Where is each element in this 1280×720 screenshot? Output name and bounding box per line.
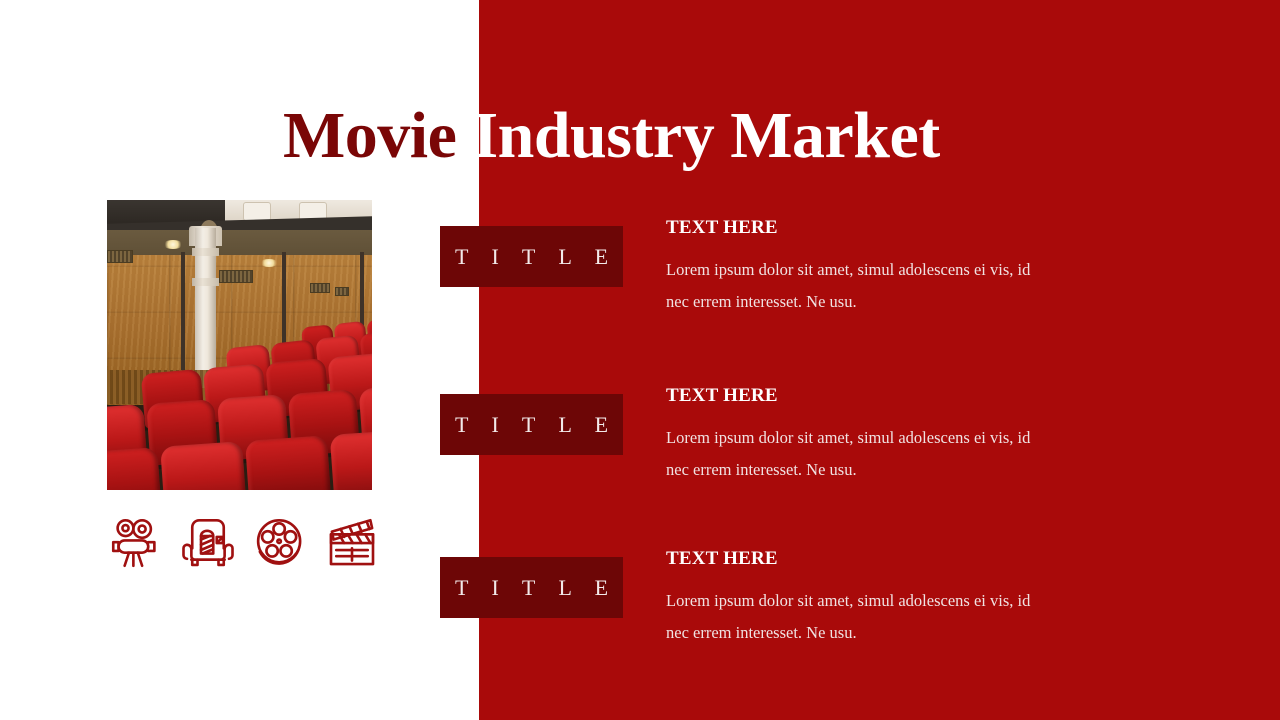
content-row: T I T L E TEXT HERE Lorem ipsum dolor si… (440, 548, 1140, 668)
content-row-body: Lorem ipsum dolor sit amet, simul adoles… (666, 585, 1046, 649)
content-row: T I T L E TEXT HERE Lorem ipsum dolor si… (440, 385, 1140, 505)
slide-canvas: Movie Industry Market (0, 0, 1280, 720)
content-rows: T I T L E TEXT HERE Lorem ipsum dolor si… (0, 0, 1280, 720)
content-row-body: Lorem ipsum dolor sit amet, simul adoles… (666, 254, 1046, 318)
content-row-text: TEXT HERE Lorem ipsum dolor sit amet, si… (666, 385, 1106, 486)
content-row-text: TEXT HERE Lorem ipsum dolor sit amet, si… (666, 217, 1106, 318)
title-chip-label: T I T L E (446, 244, 617, 270)
content-row-heading: TEXT HERE (666, 548, 1106, 570)
title-chip[interactable]: T I T L E (440, 557, 623, 618)
title-chip-label: T I T L E (446, 575, 617, 601)
title-chip-label: T I T L E (446, 412, 617, 438)
content-row-text: TEXT HERE Lorem ipsum dolor sit amet, si… (666, 548, 1106, 649)
title-chip[interactable]: T I T L E (440, 226, 623, 287)
content-row: T I T L E TEXT HERE Lorem ipsum dolor si… (440, 217, 1140, 337)
content-row-heading: TEXT HERE (666, 385, 1106, 407)
content-row-heading: TEXT HERE (666, 217, 1106, 239)
title-chip[interactable]: T I T L E (440, 394, 623, 455)
content-row-body: Lorem ipsum dolor sit amet, simul adoles… (666, 422, 1046, 486)
